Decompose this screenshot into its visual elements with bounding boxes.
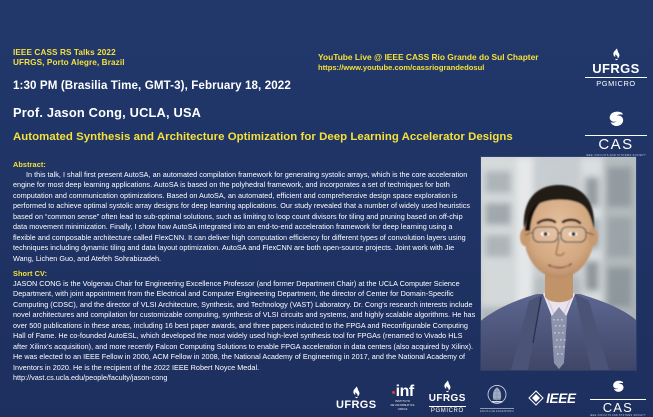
inf-red-dot-icon xyxy=(392,391,396,395)
short-cv-body: JASON CONG is the Volgenau Chair for Eng… xyxy=(13,279,476,373)
logo-ieee: IEEE xyxy=(528,390,576,406)
logo-inf-ufrgs: inf INSTITUTO DE INFORMATICA UFRGS xyxy=(391,385,415,410)
ieee-cas-logo: CAS IEEE CIRCUITS AND SYSTEMS SOCIETY xyxy=(585,108,647,157)
inf-sub2: DE INFORMATICA xyxy=(391,404,415,407)
event-location-line: UFRGS, Porto Alegre, Brazil xyxy=(13,58,125,68)
speaker-photo xyxy=(481,157,636,370)
sponsor-logo-strip: UFRGS inf INSTITUTO DE INFORMATICA UFRGS… xyxy=(336,381,646,415)
logo-escola-engenharia: ESCOLA DE ENGENHARIA xyxy=(480,383,514,412)
engineering-crest-icon xyxy=(485,383,509,407)
pgmicro-wordmark: PGMICRO xyxy=(429,406,466,416)
inf-sub3: UFRGS xyxy=(391,408,415,411)
ufrgs-wordmark: UFRGS xyxy=(336,400,377,411)
youtube-live-label: YouTube Live @ IEEE CASS Rio Grande do S… xyxy=(318,52,539,63)
page-title: Automated Synthesis and Architecture Opt… xyxy=(13,131,513,143)
abstract-text: In this talk, I shall first present Auto… xyxy=(13,170,470,263)
event-datetime: 1:30 PM (Brasilia Time, GMT-3), February… xyxy=(13,79,291,92)
ufrgs-flame-icon xyxy=(441,380,454,393)
event-series-block: IEEE CASS RS Talks 2022 UFRGS, Porto Ale… xyxy=(13,48,125,67)
ieee-diamond-icon xyxy=(528,390,544,406)
logo-ufrgs-pgmicro: UFRGS PGMICRO xyxy=(429,380,466,416)
pgmicro-wordmark: PGMICRO xyxy=(585,77,647,89)
cas-wordmark: CAS xyxy=(585,135,647,154)
inf-wordmark: inf xyxy=(391,385,415,399)
ufrgs-wordmark: UFRGS xyxy=(585,62,647,75)
speaker-name: Prof. Jason Cong, UCLA, USA xyxy=(13,105,201,120)
ufrgs-wordmark: UFRGS xyxy=(429,394,466,404)
abstract-body: In this talk, I shall first present Auto… xyxy=(13,170,476,264)
cas-swirl-icon xyxy=(608,378,628,398)
short-cv-heading: Short CV: xyxy=(13,269,476,278)
youtube-live-link[interactable]: https://www.youtube.com/cassriograndedos… xyxy=(318,63,539,73)
event-series-line1: IEEE CASS RS Talks 2022 xyxy=(13,48,125,58)
escola-engenharia-tagline: ESCOLA DE ENGENHARIA xyxy=(480,408,514,413)
short-cv-section: Short CV: JASON CONG is the Volgenau Cha… xyxy=(13,269,476,383)
ieee-wordmark: IEEE xyxy=(546,391,576,406)
youtube-live-block: YouTube Live @ IEEE CASS Rio Grande do S… xyxy=(318,52,539,73)
ufrgs-flame-icon xyxy=(350,386,363,399)
cas-wordmark: CAS xyxy=(590,399,646,415)
cas-swirl-icon xyxy=(603,108,629,134)
logo-ieee-cas: CAS IEEE CIRCUITS AND SYSTEMS SOCIETY xyxy=(590,378,646,417)
ufrgs-flame-icon xyxy=(610,48,623,61)
logo-ufrgs: UFRGS xyxy=(336,386,377,411)
abstract-section: Abstract: In this talk, I shall first pr… xyxy=(13,160,476,264)
talk-announcement-slide: IEEE CASS RS Talks 2022 UFRGS, Porto Ale… xyxy=(0,0,653,417)
abstract-heading: Abstract: xyxy=(13,160,476,169)
ufrgs-pgmicro-logo: UFRGS PGMICRO xyxy=(585,48,647,88)
speaker-portrait-image xyxy=(481,157,636,370)
